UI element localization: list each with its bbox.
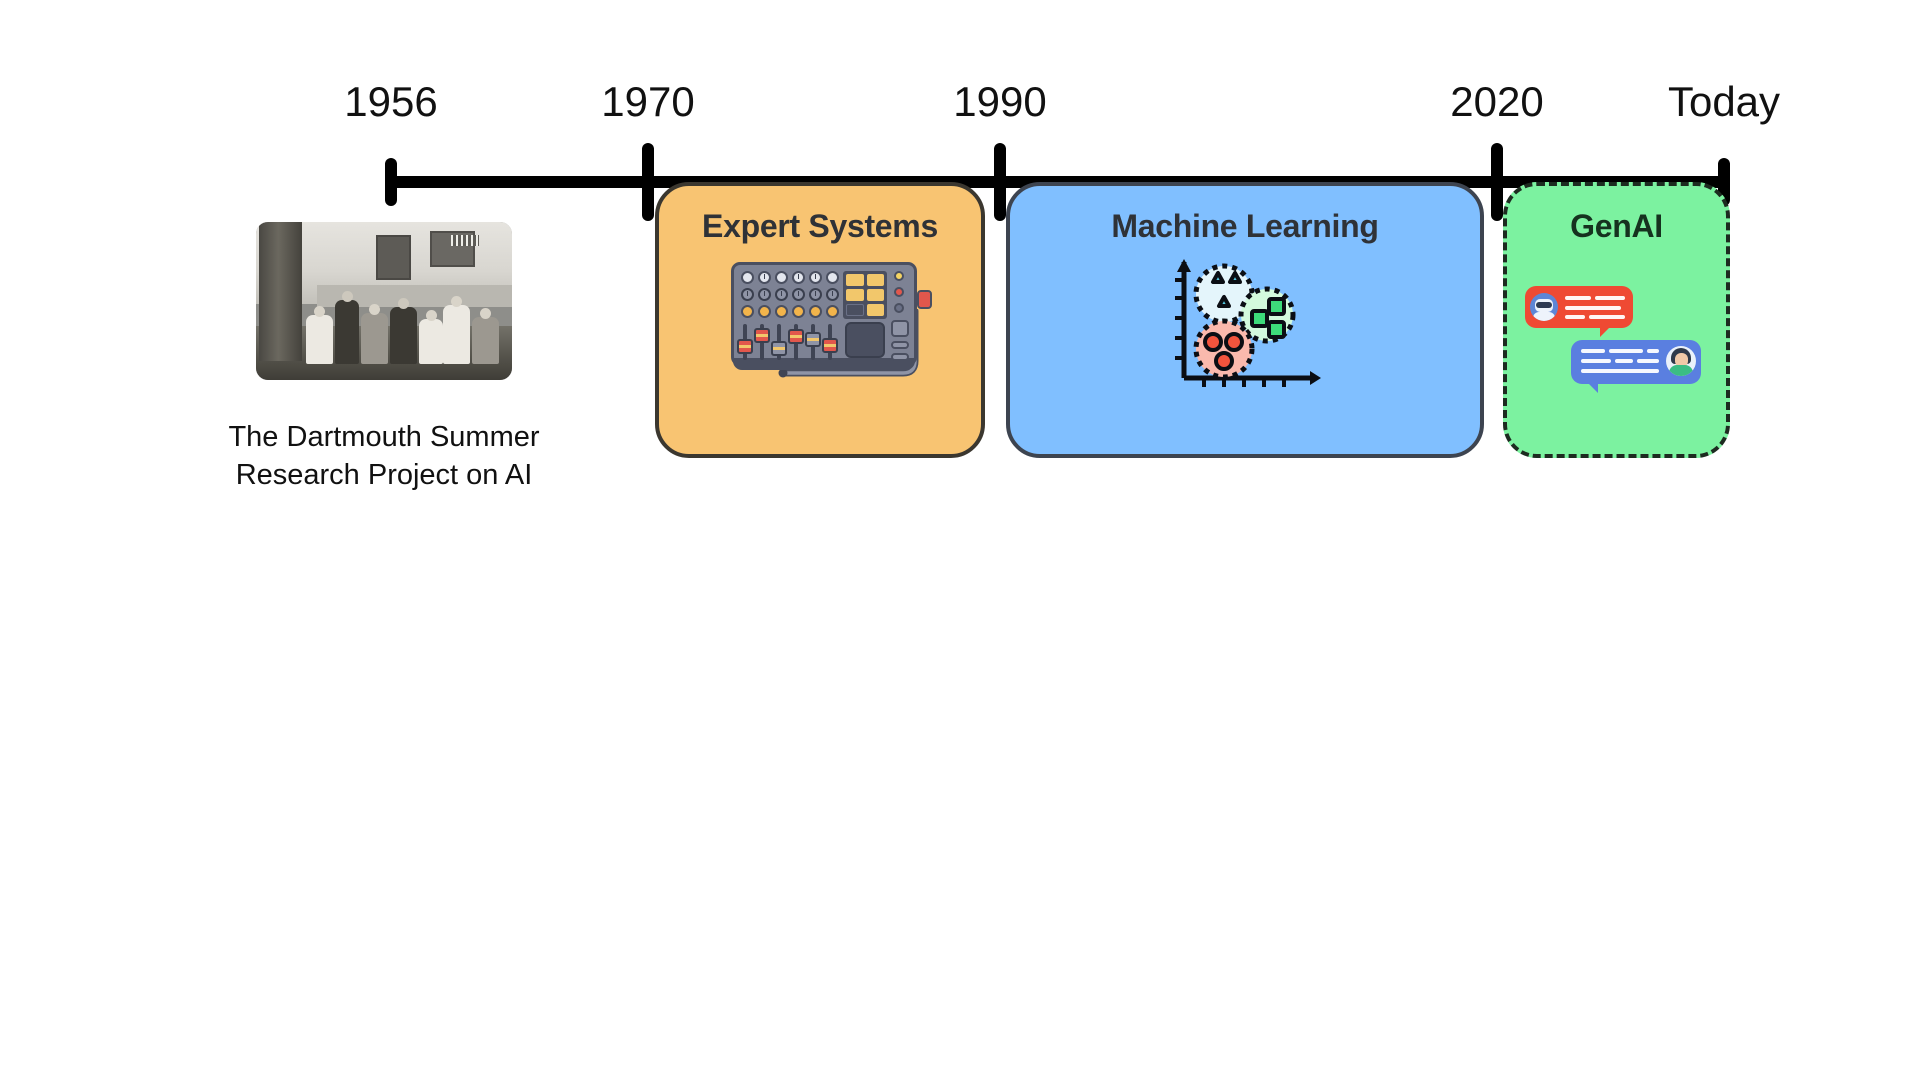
robot-avatar bbox=[1530, 293, 1558, 321]
knob-amber[interactable] bbox=[775, 305, 788, 318]
fader[interactable] bbox=[760, 324, 764, 360]
chat-bubbles-icon bbox=[1525, 286, 1717, 406]
dartmouth-photo bbox=[256, 222, 512, 380]
knob-white[interactable] bbox=[809, 271, 822, 284]
cluster-circles bbox=[1196, 321, 1252, 377]
timeline-tick-1970 bbox=[642, 143, 654, 221]
dartmouth-caption: The Dartmouth Summer Research Project on… bbox=[200, 418, 568, 495]
era-title-machine-learning: Machine Learning bbox=[1010, 208, 1480, 245]
audio-mixer-console-icon bbox=[731, 262, 931, 382]
knob-grey[interactable] bbox=[758, 288, 771, 301]
knob-grey[interactable] bbox=[741, 288, 754, 301]
knob-amber[interactable] bbox=[792, 305, 805, 318]
cluster-squares bbox=[1241, 289, 1293, 341]
timeline-tick-2020 bbox=[1491, 143, 1503, 221]
person-avatar bbox=[1666, 346, 1696, 376]
grid-button[interactable] bbox=[867, 274, 885, 286]
grid-button[interactable] bbox=[846, 274, 864, 286]
grid-button[interactable] bbox=[846, 289, 864, 301]
timeline-label-today: Today bbox=[1668, 78, 1780, 126]
knob-column[interactable] bbox=[775, 271, 790, 322]
timeline-label-1990: 1990 bbox=[953, 78, 1046, 126]
fader[interactable] bbox=[743, 324, 747, 360]
knob-column[interactable] bbox=[741, 271, 756, 322]
knob-amber[interactable] bbox=[809, 305, 822, 318]
knob-white[interactable] bbox=[758, 271, 771, 284]
photo-window-slats bbox=[451, 235, 479, 246]
timeline-label-1956: 1956 bbox=[344, 78, 437, 126]
chat-bubble-user bbox=[1571, 340, 1701, 384]
led-dark bbox=[894, 303, 904, 313]
dartmouth-event: The Dartmouth Summer Research Project on… bbox=[200, 222, 568, 495]
chat-bubble-bot bbox=[1525, 286, 1633, 328]
mixer-fader-row[interactable] bbox=[739, 324, 839, 362]
fader[interactable] bbox=[828, 324, 832, 360]
knob-white[interactable] bbox=[826, 271, 839, 284]
mixer-led-column bbox=[894, 271, 908, 319]
knob-grey[interactable] bbox=[826, 288, 839, 301]
mixer-side-buttons[interactable] bbox=[891, 320, 909, 365]
timeline-label-1970: 1970 bbox=[601, 78, 694, 126]
knob-white[interactable] bbox=[741, 271, 754, 284]
timeline-label-2020: 2020 bbox=[1450, 78, 1543, 126]
knob-column[interactable] bbox=[809, 271, 824, 322]
photo-figures bbox=[302, 282, 507, 364]
knob-column[interactable] bbox=[792, 271, 807, 322]
knob-white[interactable] bbox=[792, 271, 805, 284]
era-card-expert-systems[interactable]: Expert Systems bbox=[655, 182, 985, 458]
fader[interactable] bbox=[811, 324, 815, 360]
knob-amber[interactable] bbox=[741, 305, 754, 318]
grid-button[interactable] bbox=[867, 289, 885, 301]
era-card-machine-learning[interactable]: Machine Learning bbox=[1006, 182, 1484, 458]
era-title-expert-systems: Expert Systems bbox=[659, 208, 981, 245]
knob-grey[interactable] bbox=[792, 288, 805, 301]
mixer-touch-pad[interactable] bbox=[845, 322, 885, 358]
dartmouth-caption-line-2: Research Project on AI bbox=[200, 456, 568, 494]
era-title-genai: GenAI bbox=[1507, 208, 1726, 245]
fader[interactable] bbox=[777, 324, 781, 360]
timeline-tick-1990 bbox=[994, 143, 1006, 221]
era-card-genai[interactable]: GenAI bbox=[1503, 182, 1730, 458]
cluster-scatter-plot-icon bbox=[1168, 254, 1323, 394]
led-yellow bbox=[894, 271, 904, 281]
knob-grey[interactable] bbox=[775, 288, 788, 301]
led-red bbox=[894, 287, 904, 297]
timeline-tick-1956 bbox=[385, 158, 397, 206]
side-button[interactable] bbox=[891, 353, 909, 361]
knob-amber[interactable] bbox=[826, 305, 839, 318]
photo-window-left bbox=[376, 235, 411, 280]
fader[interactable] bbox=[794, 324, 798, 360]
grid-button[interactable] bbox=[867, 304, 885, 316]
cable-plug bbox=[917, 290, 932, 309]
side-button[interactable] bbox=[891, 320, 909, 337]
photo-tree bbox=[259, 222, 303, 361]
knob-white[interactable] bbox=[775, 271, 788, 284]
mixer-button-grid[interactable] bbox=[843, 271, 887, 319]
knob-column[interactable] bbox=[826, 271, 841, 322]
side-button[interactable] bbox=[891, 341, 909, 349]
dartmouth-caption-line-1: The Dartmouth Summer bbox=[200, 418, 568, 456]
timeline-diagram: 1956197019902020Today The Dartmouth Summ… bbox=[0, 0, 1920, 1080]
knob-amber[interactable] bbox=[758, 305, 771, 318]
grid-button[interactable] bbox=[846, 304, 864, 316]
knob-grey[interactable] bbox=[809, 288, 822, 301]
knob-column[interactable] bbox=[758, 271, 773, 322]
